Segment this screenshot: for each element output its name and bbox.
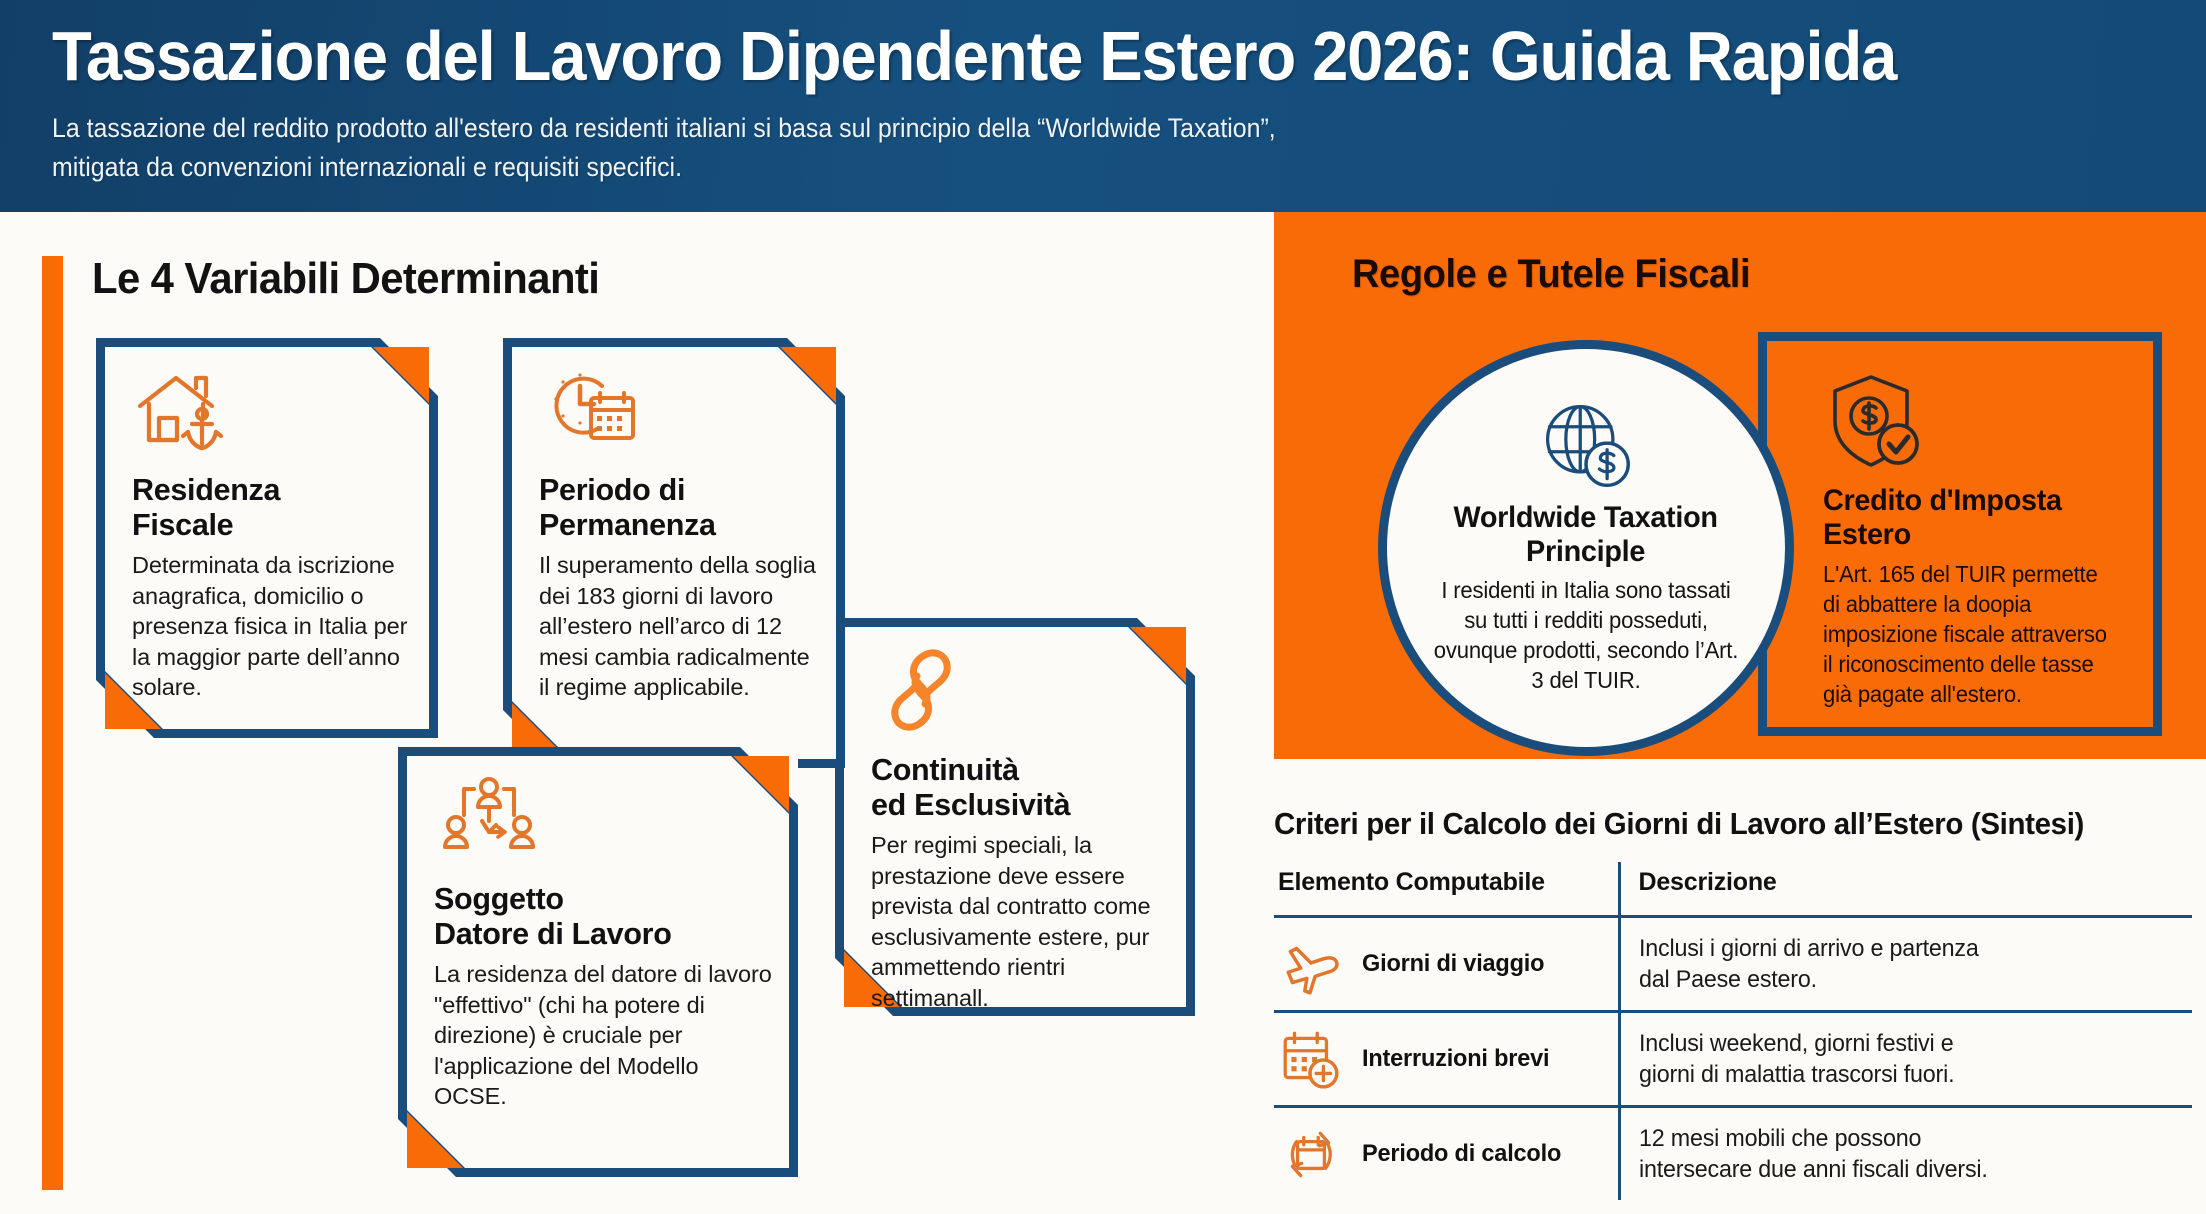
airplane-icon	[1278, 931, 1344, 997]
page-title: Tassazione del Lavoro Dipendente Estero …	[52, 20, 2055, 94]
org-chart-people-icon	[434, 775, 544, 865]
card-content: Residenza Fiscale Determinata da iscrizi…	[132, 366, 412, 703]
shield-dollar-check-icon	[1823, 371, 1923, 471]
house-anchor-icon	[132, 366, 232, 456]
card-title: Continuità ed Esclusività	[871, 753, 1169, 823]
worldwide-taxation-circle[interactable]: Worldwide Taxation Principle I residenti…	[1378, 340, 1794, 756]
row-label: Interruzioni brevi	[1362, 1045, 1549, 1073]
row-label: Giorni di viaggio	[1362, 950, 1544, 978]
card-title: Soggetto Datore di Lavoro	[434, 882, 772, 952]
header-subtitle-line-1: La tassazione del reddito prodotto all'e…	[52, 110, 2077, 148]
card-body: Il superamento della soglia dei 183 gior…	[539, 550, 819, 703]
card-content: Periodo di Permanenza Il superamento del…	[539, 366, 819, 703]
column-header-descrizione: Descrizione	[1619, 862, 2192, 917]
row-description: Inclusi weekend, giorni festivi e giorni…	[1639, 1028, 2176, 1090]
table-cell-descrizione: Inclusi weekend, giorni festivi e giorni…	[1619, 1012, 2192, 1107]
table-row[interactable]: Periodo di calcolo 12 mesi mobili che po…	[1274, 1107, 2192, 1201]
clock-calendar-icon	[539, 366, 639, 456]
calendar-plus-icon	[1278, 1026, 1344, 1092]
left-accent-bar	[42, 256, 63, 1190]
credito-imposta-box[interactable]: Credito d'Imposta Estero L'Art. 165 del …	[1758, 332, 2162, 736]
card-soggetto-datore-lavoro[interactable]: Soggetto Datore di Lavoro La residenza d…	[398, 747, 798, 1177]
header-subtitle-line-2: mitigata da convenzioni internazionali e…	[52, 149, 2077, 187]
card-body: Determinata da iscrizione anagrafica, do…	[132, 550, 412, 703]
card-body: Per regimi speciali, la prestazione deve…	[871, 830, 1169, 1013]
table-cell-descrizione: 12 mesi mobili che possono intersecare d…	[1619, 1107, 2192, 1201]
card-content: Soggetto Datore di Lavoro La residenza d…	[434, 775, 772, 1112]
credito-title: Credito d'Imposta Estero	[1823, 484, 2115, 552]
card-content: Continuità ed Esclusività Per regimi spe…	[871, 646, 1169, 1013]
table-title: Criteri per il Calcolo dei Giorni di Lav…	[1274, 806, 2084, 842]
card-periodo-permanenza[interactable]: Periodo di Permanenza Il superamento del…	[503, 338, 845, 768]
column-header-elemento: Elemento Computabile	[1274, 862, 1619, 917]
table-cell-elemento: Periodo di calcolo	[1274, 1107, 1619, 1201]
circle-title: Worldwide Taxation Principle	[1454, 501, 1718, 568]
card-title: Periodo di Permanenza	[539, 473, 819, 543]
globe-dollar-icon	[1538, 397, 1634, 493]
table-cell-descrizione: Inclusi i giorni di arrivo e partenza da…	[1619, 917, 2192, 1012]
table-row[interactable]: Giorni di viaggio Inclusi i giorni di ar…	[1274, 917, 2192, 1012]
credito-body: L'Art. 165 del TUIR permette di abbatter…	[1823, 560, 2115, 709]
table-cell-elemento: Interruzioni brevi	[1274, 1012, 1619, 1107]
header-banner: Tassazione del Lavoro Dipendente Estero …	[0, 0, 2206, 212]
chain-link-icon	[871, 646, 971, 736]
table-row[interactable]: Interruzioni brevi Inclusi weekend, gior…	[1274, 1012, 2192, 1107]
criteri-table: Elemento Computabile Descrizione Giorni …	[1274, 862, 2192, 1200]
table-cell-elemento: Giorni di viaggio	[1274, 917, 1619, 1012]
infographic-canvas: Tassazione del Lavoro Dipendente Estero …	[0, 0, 2206, 1214]
card-body: La residenza del datore di lavoro "effet…	[434, 959, 772, 1112]
table-header-row: Elemento Computabile Descrizione	[1274, 862, 2192, 917]
row-description: 12 mesi mobili che possono intersecare d…	[1639, 1123, 2176, 1185]
card-continuita-esclusivita[interactable]: Continuità ed Esclusività Per regimi spe…	[835, 618, 1195, 1016]
left-section-heading: Le 4 Variabili Determinanti	[92, 254, 599, 304]
calendar-refresh-icon	[1278, 1121, 1344, 1187]
card-residenza-fiscale[interactable]: Residenza Fiscale Determinata da iscrizi…	[96, 338, 438, 738]
row-label: Periodo di calcolo	[1362, 1140, 1561, 1168]
row-description: Inclusi i giorni di arrivo e partenza da…	[1639, 933, 2176, 995]
right-section-heading: Regole e Tutele Fiscali	[1352, 252, 1750, 297]
card-title: Residenza Fiscale	[132, 473, 412, 543]
circle-body: I residenti in Italia sono tassati su tu…	[1428, 576, 1745, 696]
